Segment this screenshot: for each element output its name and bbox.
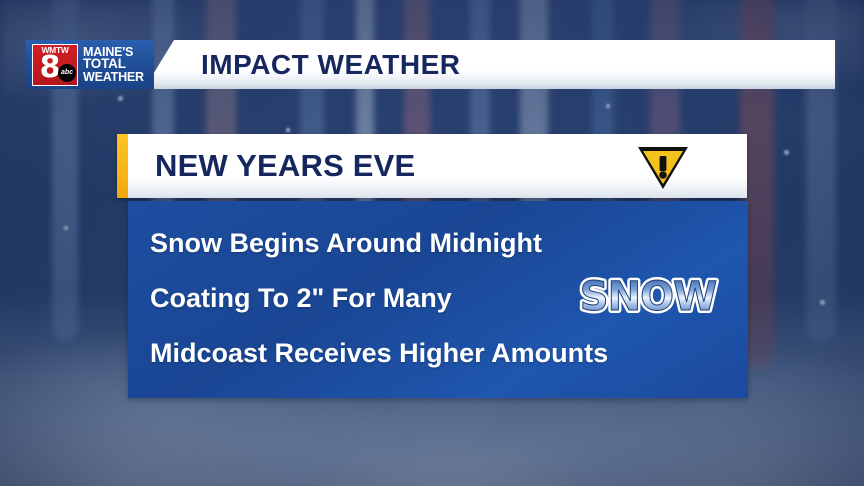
weather-graphic-screen: WMTW 8 abc MAINE'S TOTAL WEATHER IMPACT … [0, 0, 864, 486]
forecast-panel: Snow Begins Around Midnight Coating To 2… [128, 201, 748, 398]
forecast-line-3: Midcoast Receives Higher Amounts [150, 338, 608, 369]
forecast-line-2: Coating To 2" For Many [150, 283, 452, 314]
headline-accent-stripe [117, 134, 128, 198]
forecast-line-1: Snow Begins Around Midnight [150, 228, 542, 259]
wmtw-channel8-logo: WMTW 8 abc [32, 44, 78, 86]
headline-bar: NEW YEARS EVE [117, 134, 747, 198]
brand-line-3: WEATHER [83, 71, 144, 84]
brand-line-2: TOTAL [83, 58, 144, 71]
warning-triangle-icon [635, 143, 691, 191]
snow-wordmark: SNOW SNOW [564, 273, 732, 321]
header-title: IMPACT WEATHER [201, 40, 461, 89]
header-bar: WMTW 8 abc MAINE'S TOTAL WEATHER IMPACT … [26, 40, 835, 89]
station-brand-text: MAINE'S TOTAL WEATHER [83, 46, 144, 84]
station-logo-block: WMTW 8 abc MAINE'S TOTAL WEATHER [26, 40, 154, 89]
headline-text: NEW YEARS EVE [155, 134, 415, 198]
abc-network-icon: abc [58, 64, 76, 82]
snow-wordmark-fill: SNOW [580, 274, 716, 320]
